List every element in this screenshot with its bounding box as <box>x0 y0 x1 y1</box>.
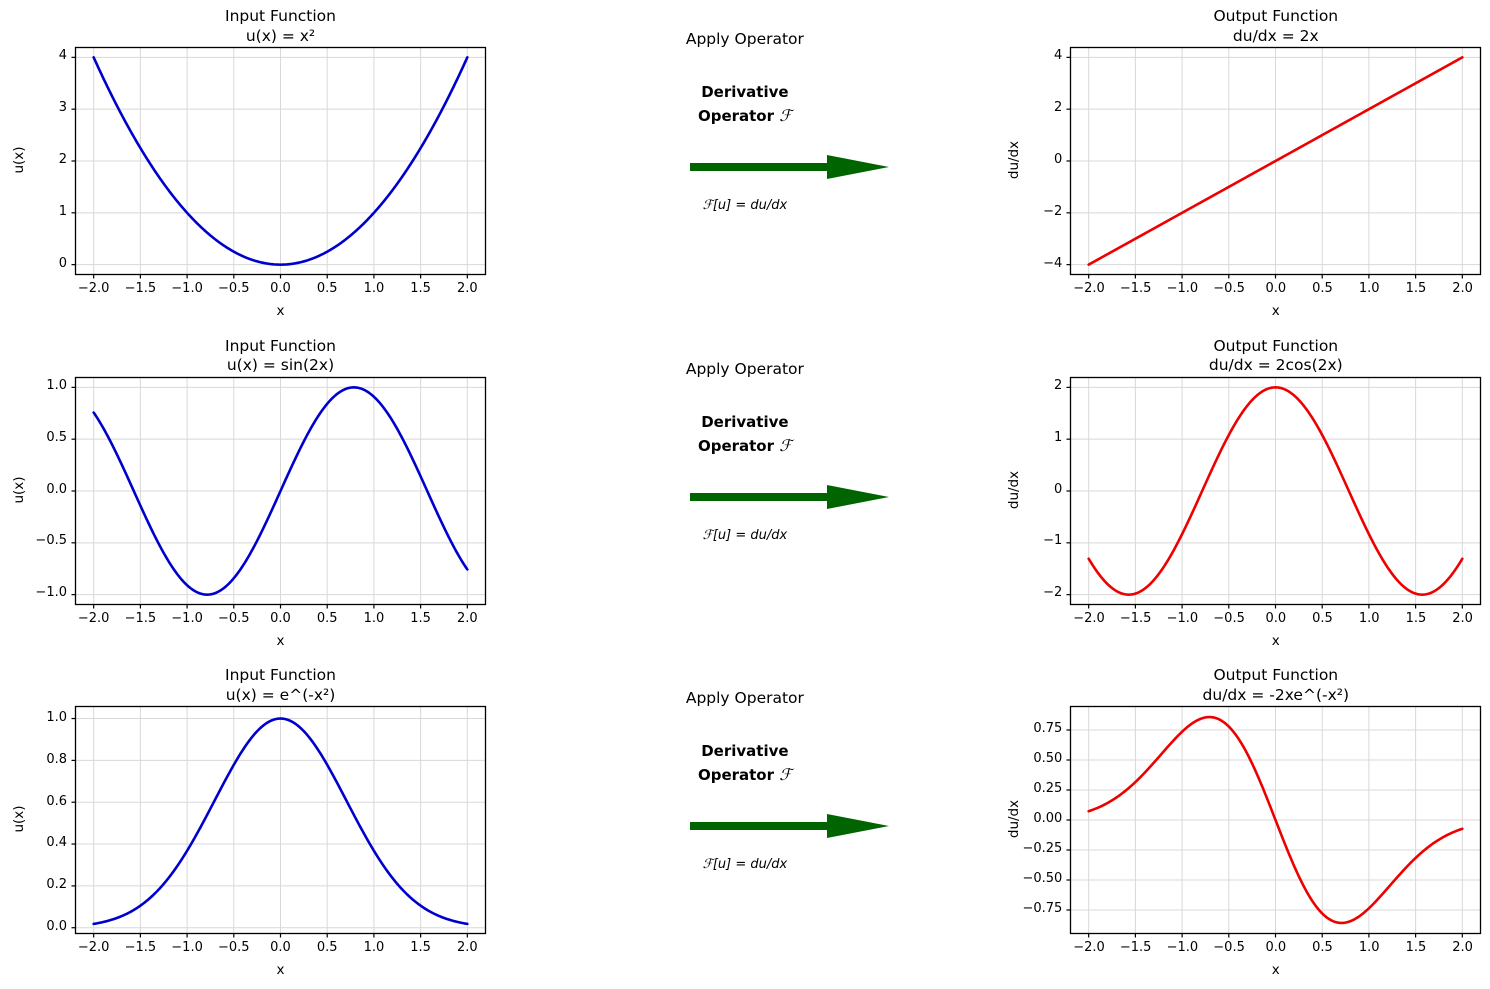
plot-area: −2.0−1.5−1.0−0.50.00.51.01.52.001234xu(x… <box>75 47 486 275</box>
operator-name-text: Derivative <box>701 742 788 760</box>
chart-canvas <box>1070 706 1481 934</box>
right-arrow-icon <box>497 811 994 841</box>
x-tick-label: 2.0 <box>1433 281 1490 296</box>
y-tick-label: 0 <box>7 256 67 271</box>
operator-name-text-2: Operator <box>698 437 774 455</box>
x-axis-label: x <box>75 303 486 319</box>
figure-row: Input Function u(x) = x² −2.0−1.5−1.0−0.… <box>0 0 1490 330</box>
x-tick-label: 2.0 <box>1433 611 1490 626</box>
operator-annotation-2: Apply Operator DerivativeOperator ℱ ℱ[u]… <box>497 659 994 989</box>
plot-area: −2.0−1.5−1.0−0.50.00.51.01.52.0−0.75−0.5… <box>1070 706 1481 934</box>
operator-formula-symbol: ℱ <box>703 857 713 872</box>
operator-formula-rest: [u] = du/dx <box>713 857 787 872</box>
x-tick-label: 2.0 <box>437 281 497 296</box>
chart-canvas <box>1070 377 1481 605</box>
x-axis-label: x <box>1070 303 1481 319</box>
chart-canvas <box>75 706 486 934</box>
operator-name-text-2: Operator <box>698 107 774 125</box>
x-axis-label: x <box>1070 633 1481 649</box>
x-tick-label: 2.0 <box>437 611 497 626</box>
plot-area: −2.0−1.5−1.0−0.50.00.51.01.52.0−2−1012xd… <box>1070 377 1481 605</box>
figure-row: Input Function u(x) = sin(2x) −2.0−1.5−1… <box>0 330 1490 660</box>
y-tick-label: −4 <box>1002 256 1062 271</box>
x-tick-label: 2.0 <box>1433 940 1490 955</box>
chart-canvas <box>75 47 486 275</box>
y-tick-label: −1.0 <box>7 585 67 600</box>
operator-formula-rest: [u] = du/dx <box>713 198 787 213</box>
chart-title: Input Function u(x) = sin(2x) <box>75 337 486 376</box>
y-axis-label: du/dx <box>1006 100 1022 220</box>
operator-formula: ℱ[u] = du/dx <box>497 198 994 213</box>
operator-formula: ℱ[u] = du/dx <box>497 528 994 543</box>
chart-title: Output Function du/dx = -2xe^(-x²) <box>1070 666 1481 705</box>
plot-area: −2.0−1.5−1.0−0.50.00.51.01.52.0−1.0−0.50… <box>75 377 486 605</box>
operator-annotation-0: Apply Operator DerivativeOperator ℱ ℱ[u]… <box>497 0 994 330</box>
right-arrow-icon <box>497 482 994 512</box>
operator-name-text: Derivative <box>701 83 788 101</box>
operator-formula-symbol: ℱ <box>703 198 713 213</box>
operator-formula-rest: [u] = du/dx <box>713 528 787 543</box>
operator-name-text: Derivative <box>701 413 788 431</box>
x-axis-label: x <box>75 633 486 649</box>
y-axis-label: u(x) <box>11 100 27 220</box>
plot-area: −2.0−1.5−1.0−0.50.00.51.01.52.0−4−2024xd… <box>1070 47 1481 275</box>
chart-panel-input-0: Input Function u(x) = x² −2.0−1.5−1.0−0.… <box>0 0 497 330</box>
apply-operator-label: Apply Operator <box>497 689 994 707</box>
chart-title: Input Function u(x) = x² <box>75 7 486 46</box>
y-tick-label: −2 <box>1002 585 1062 600</box>
x-tick-label: 2.0 <box>437 940 497 955</box>
chart-panel-input-1: Input Function u(x) = sin(2x) −2.0−1.5−1… <box>0 330 497 660</box>
y-tick-label: 0.75 <box>1002 721 1062 736</box>
chart-panel-input-2: Input Function u(x) = e^(-x²) −2.0−1.5−1… <box>0 659 497 989</box>
operator-name-label: DerivativeOperator ℱ <box>497 740 994 787</box>
chart-canvas <box>1070 47 1481 275</box>
operator-symbol: ℱ <box>779 765 792 784</box>
chart-panel-output-1: Output Function du/dx = 2cos(2x) −2.0−1.… <box>993 330 1490 660</box>
figure-row: Input Function u(x) = e^(-x²) −2.0−1.5−1… <box>0 659 1490 989</box>
y-tick-label: 0.0 <box>7 919 67 934</box>
y-axis-label: u(x) <box>11 759 27 879</box>
y-axis-label: u(x) <box>11 430 27 550</box>
chart-title: Input Function u(x) = e^(-x²) <box>75 666 486 705</box>
operator-symbol: ℱ <box>779 436 792 455</box>
operator-formula: ℱ[u] = du/dx <box>497 857 994 872</box>
right-arrow-icon <box>497 152 994 182</box>
operator-symbol: ℱ <box>779 106 792 125</box>
y-tick-label: −0.75 <box>1002 901 1062 916</box>
apply-operator-label: Apply Operator <box>497 30 994 48</box>
x-axis-label: x <box>75 962 486 978</box>
plot-area: −2.0−1.5−1.0−0.50.00.51.01.52.00.00.20.4… <box>75 706 486 934</box>
chart-title: Output Function du/dx = 2x <box>1070 7 1481 46</box>
chart-panel-output-0: Output Function du/dx = 2x −2.0−1.5−1.0−… <box>993 0 1490 330</box>
x-axis-label: x <box>1070 962 1481 978</box>
chart-title: Output Function du/dx = 2cos(2x) <box>1070 337 1481 376</box>
chart-canvas <box>75 377 486 605</box>
operator-learning-figure: Input Function u(x) = x² −2.0−1.5−1.0−0.… <box>0 0 1490 989</box>
y-axis-label: du/dx <box>1006 759 1022 879</box>
y-tick-label: 1.0 <box>7 378 67 393</box>
operator-name-label: DerivativeOperator ℱ <box>497 81 994 128</box>
operator-formula-symbol: ℱ <box>703 528 713 543</box>
operator-name-label: DerivativeOperator ℱ <box>497 411 994 458</box>
y-tick-label: 1.0 <box>7 710 67 725</box>
chart-panel-output-2: Output Function du/dx = -2xe^(-x²) −2.0−… <box>993 659 1490 989</box>
y-tick-label: 4 <box>7 48 67 63</box>
y-axis-label: du/dx <box>1006 430 1022 550</box>
y-tick-label: 0.2 <box>7 877 67 892</box>
y-tick-label: 2 <box>1002 378 1062 393</box>
operator-name-text-2: Operator <box>698 766 774 784</box>
apply-operator-label: Apply Operator <box>497 360 994 378</box>
operator-annotation-1: Apply Operator DerivativeOperator ℱ ℱ[u]… <box>497 330 994 660</box>
y-tick-label: 4 <box>1002 48 1062 63</box>
